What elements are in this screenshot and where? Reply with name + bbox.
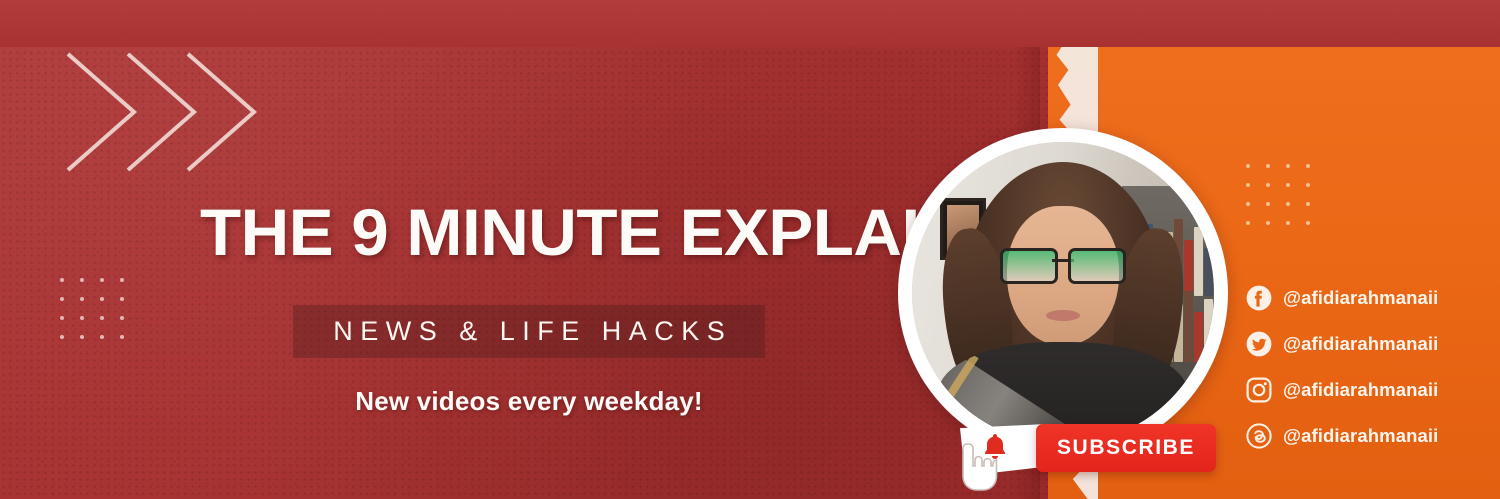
dot bbox=[60, 278, 64, 282]
subtitle: NEWS & LIFE HACKS bbox=[293, 305, 765, 358]
top-red-band bbox=[0, 0, 1500, 47]
dot bbox=[1246, 183, 1250, 187]
twitter-icon bbox=[1246, 331, 1272, 357]
social-link-threads[interactable]: @afidiarahmanaii bbox=[1246, 414, 1486, 458]
dot bbox=[120, 316, 124, 320]
book bbox=[1204, 299, 1213, 362]
dot bbox=[1306, 183, 1310, 187]
avatar-photo bbox=[912, 142, 1214, 444]
dot-grid-left bbox=[60, 278, 132, 340]
photo-glasses bbox=[1000, 248, 1126, 278]
dot bbox=[120, 278, 124, 282]
dot bbox=[80, 278, 84, 282]
chevron-decoration bbox=[60, 48, 280, 176]
dot bbox=[100, 297, 104, 301]
facebook-icon bbox=[1246, 285, 1272, 311]
hand-cursor-icon bbox=[955, 440, 999, 496]
dot bbox=[1246, 164, 1250, 168]
dot bbox=[100, 335, 104, 339]
dot bbox=[1286, 183, 1290, 187]
social-handle-threads: @afidiarahmanaii bbox=[1283, 425, 1438, 447]
dot bbox=[1266, 164, 1270, 168]
dot bbox=[1306, 164, 1310, 168]
dot bbox=[1246, 202, 1250, 206]
dot bbox=[1246, 221, 1250, 225]
social-links: @afidiarahmanaii @afidiarahmanaii @afidi… bbox=[1246, 276, 1486, 460]
social-handle-instagram: @afidiarahmanaii bbox=[1283, 379, 1438, 401]
chevron-right-icon bbox=[128, 54, 194, 170]
book bbox=[1184, 291, 1193, 362]
photo-lips bbox=[1046, 310, 1080, 321]
social-handle-facebook: @afidiarahmanaii bbox=[1283, 287, 1438, 309]
dot bbox=[1286, 202, 1290, 206]
dot bbox=[80, 297, 84, 301]
dot bbox=[60, 297, 64, 301]
dot bbox=[120, 335, 124, 339]
dot bbox=[100, 316, 104, 320]
threads-icon bbox=[1246, 423, 1272, 449]
dot-grid-right bbox=[1246, 164, 1318, 226]
social-link-instagram[interactable]: @afidiarahmanaii bbox=[1246, 368, 1486, 412]
dot bbox=[60, 316, 64, 320]
book bbox=[1184, 240, 1193, 296]
avatar bbox=[898, 128, 1228, 458]
book bbox=[1194, 312, 1203, 362]
dot bbox=[1266, 221, 1270, 225]
book bbox=[1204, 248, 1213, 296]
dot bbox=[120, 297, 124, 301]
dot bbox=[1306, 221, 1310, 225]
dot bbox=[1286, 221, 1290, 225]
tagline: New videos every weekday! bbox=[293, 386, 765, 417]
book bbox=[1194, 227, 1203, 296]
chevron-right-icon bbox=[68, 54, 134, 170]
social-link-facebook[interactable]: @afidiarahmanaii bbox=[1246, 276, 1486, 320]
subscribe-button-label: SUBSCRIBE bbox=[1057, 436, 1195, 460]
dot bbox=[60, 335, 64, 339]
dot bbox=[1266, 202, 1270, 206]
channel-banner: THE 9 MINUTE EXPLAINER NEWS & LIFE HACKS… bbox=[0, 0, 1500, 499]
dot bbox=[100, 278, 104, 282]
dot bbox=[1286, 164, 1290, 168]
dot bbox=[1266, 183, 1270, 187]
chevron-right-icon bbox=[188, 54, 254, 170]
social-handle-twitter: @afidiarahmanaii bbox=[1283, 333, 1438, 355]
dot bbox=[1306, 202, 1310, 206]
social-link-twitter[interactable]: @afidiarahmanaii bbox=[1246, 322, 1486, 366]
dot bbox=[80, 335, 84, 339]
instagram-icon bbox=[1246, 377, 1272, 403]
subscribe-button[interactable]: SUBSCRIBE bbox=[1036, 424, 1216, 472]
dot bbox=[80, 316, 84, 320]
